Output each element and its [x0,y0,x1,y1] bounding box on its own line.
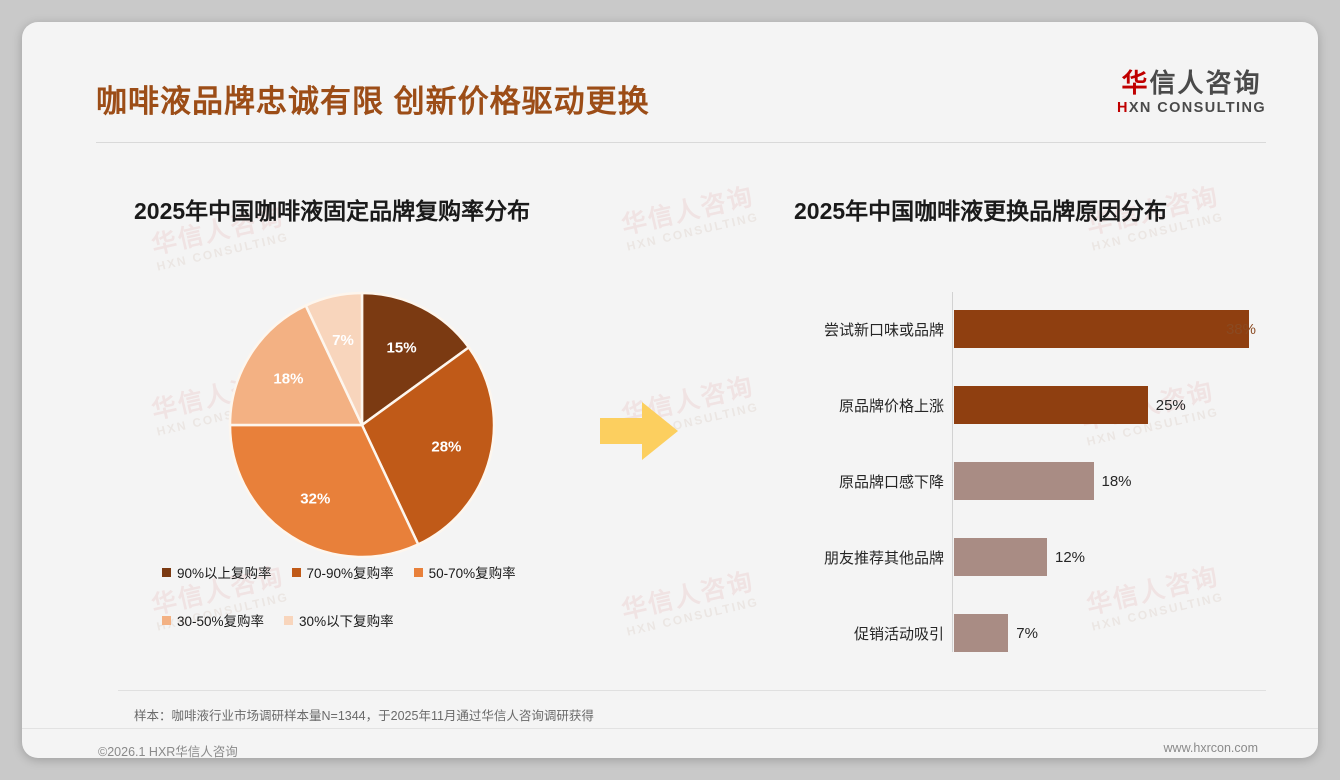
logo-english: HXN CONSULTING [1117,100,1266,116]
bar-fill[interactable] [954,538,1047,576]
pie-chart: 15%28%32%18%7% [227,290,497,560]
watermark-cn: 华信人咨询 [619,567,757,625]
legend-item[interactable]: 90%以上复购率 [162,562,272,582]
logo-english-rest: XN CONSULTING [1129,100,1266,116]
watermark-en: HXN CONSULTING [625,210,760,254]
slide-root: 华信人咨询 HXN CONSULTING 华信人咨询 HXN CONSULTIN… [0,0,1340,780]
legend-label: 50-70%复购率 [429,562,516,582]
slide-card: 华信人咨询 HXN CONSULTING 华信人咨询 HXN CONSULTIN… [22,22,1318,758]
bar-value-label: 12% [1055,549,1085,566]
bar-fill[interactable] [954,614,1008,652]
logo-accent-char: 华 [1121,68,1149,98]
bar-value-label: 25% [1156,397,1186,414]
header-divider [96,142,1266,143]
legend-label: 90%以上复购率 [177,562,272,582]
legend-row: 90%以上复购率70-90%复购率50-70%复购率 [162,562,582,582]
pie-slice-label: 15% [387,339,417,356]
watermark-en: HXN CONSULTING [155,230,290,274]
legend-label: 30%以下复购率 [299,610,394,630]
pie-slice-label: 7% [332,332,354,349]
watermark: 华信人咨询 HXN CONSULTING [619,567,760,639]
bar-fill[interactable] [954,462,1094,500]
website-url[interactable]: www.hxrcon.com [1164,741,1258,755]
legend-item[interactable]: 30-50%复购率 [162,610,264,630]
logo-english-accent: H [1117,100,1129,116]
page-title: 咖啡液品牌忠诚有限 创新价格驱动更换 [96,76,650,121]
bar-track: 7% [954,614,1262,652]
logo-chinese-rest: 信人咨询 [1149,68,1261,98]
pie-chart-svg: 15%28%32%18%7% [227,290,497,560]
bar-category-label: 朋友推荐其他品牌 [792,547,954,568]
bar-value-label: 38% [1226,321,1256,338]
legend-item[interactable]: 50-70%复购率 [414,562,516,582]
footnote-divider [118,690,1266,691]
bar-row: 原品牌口感下降18% [792,462,1262,500]
legend-swatch-icon [162,616,171,625]
legend-label: 70-90%复购率 [307,562,394,582]
bar-value-label: 7% [1016,625,1038,642]
legend-swatch-icon [162,568,171,577]
legend-label: 30-50%复购率 [177,610,264,630]
legend-item[interactable]: 70-90%复购率 [292,562,394,582]
watermark: 华信人咨询 HXN CONSULTING [619,182,760,254]
slide-header: 咖啡液品牌忠诚有限 创新价格驱动更换 华信人咨询 HXN CONSULTING [96,60,1266,142]
legend-swatch-icon [284,616,293,625]
copyright-text: ©2026.1 HXR华信人咨询 [98,741,238,758]
bar-track: 25% [954,386,1262,424]
watermark-cn: 华信人咨询 [619,182,757,240]
bar-track: 38% [954,310,1262,348]
pie-slice-label: 28% [431,439,461,456]
bar-value-label: 18% [1102,473,1132,490]
bar-chart: 尝试新口味或品牌38%原品牌价格上涨25%原品牌口感下降18%朋友推荐其他品牌1… [792,292,1262,652]
legend-swatch-icon [292,568,301,577]
pie-chart-title: 2025年中国咖啡液固定品牌复购率分布 [134,192,530,226]
bar-row: 促销活动吸引7% [792,614,1262,652]
bar-track: 12% [954,538,1262,576]
pie-legend: 90%以上复购率70-90%复购率50-70%复购率30-50%复购率30%以下… [162,562,582,658]
legend-swatch-icon [414,568,423,577]
bar-row: 朋友推荐其他品牌12% [792,538,1262,576]
bar-category-label: 原品牌口感下降 [792,471,954,492]
bar-category-label: 原品牌价格上涨 [792,395,954,416]
bar-track: 18% [954,462,1262,500]
bar-fill[interactable] [954,310,1249,348]
right-arrow-icon [600,400,678,462]
footnote: 样本：咖啡液行业市场调研样本量N=1344，于2025年11月通过华信人咨询调研… [134,705,594,724]
pie-slice-label: 18% [273,370,303,387]
logo-chinese: 华信人咨询 [1117,70,1266,97]
bar-row: 原品牌价格上涨25% [792,386,1262,424]
bar-chart-title: 2025年中国咖啡液更换品牌原因分布 [794,192,1167,226]
bar-category-label: 尝试新口味或品牌 [792,319,954,340]
legend-item[interactable]: 30%以下复购率 [284,610,394,630]
bar-row: 尝试新口味或品牌38% [792,310,1262,348]
pie-slice-label: 32% [300,491,330,508]
watermark-en: HXN CONSULTING [625,595,760,639]
slide-footer: ©2026.1 HXR华信人咨询 www.hxrcon.com [22,728,1318,758]
bar-fill[interactable] [954,386,1148,424]
brand-logo: 华信人咨询 HXN CONSULTING [1117,70,1266,116]
bar-category-label: 促销活动吸引 [792,623,954,644]
legend-row: 30-50%复购率30%以下复购率 [162,610,582,630]
